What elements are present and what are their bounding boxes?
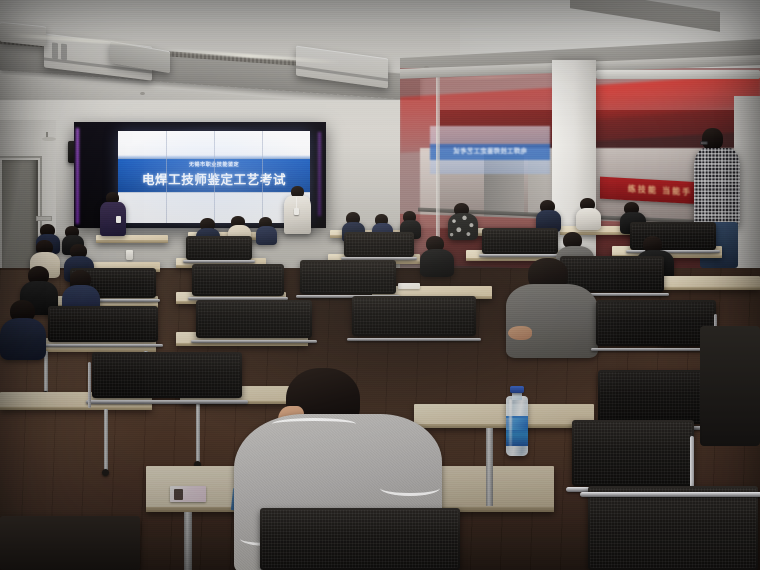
chair[interactable] bbox=[92, 352, 242, 398]
checkered-shirt bbox=[694, 148, 740, 226]
wall-sign-plate bbox=[36, 216, 52, 221]
bottle-cap[interactable] bbox=[510, 386, 524, 393]
chair[interactable] bbox=[344, 232, 414, 257]
desk-leg bbox=[184, 512, 192, 570]
roller-blind-housing[interactable] bbox=[596, 70, 760, 79]
ac-vent-icon bbox=[61, 43, 67, 60]
head bbox=[702, 128, 723, 150]
chair[interactable] bbox=[352, 296, 476, 336]
desk-leg bbox=[104, 409, 108, 471]
video-panel-seam bbox=[166, 131, 167, 223]
paper-cup[interactable] bbox=[126, 250, 133, 260]
video-panel-seam bbox=[262, 131, 263, 223]
wall-lamp-icon bbox=[42, 132, 56, 139]
chair[interactable] bbox=[48, 306, 158, 342]
video-panel-seam bbox=[118, 192, 310, 193]
screen-reflection-in-glass: 电焊工技师鉴定工艺考试 bbox=[430, 126, 550, 174]
id-badge bbox=[294, 208, 299, 215]
torso bbox=[0, 318, 46, 360]
projection-screen[interactable]: 无锡市职业技能鉴定 电焊工技师鉴定工艺考试 bbox=[118, 131, 310, 223]
bottle-highlight bbox=[509, 399, 512, 453]
arm bbox=[508, 326, 532, 340]
desk-leg bbox=[44, 351, 48, 393]
torso bbox=[256, 226, 277, 245]
chair[interactable] bbox=[192, 264, 284, 296]
screen-reflection-title: 电焊工技师鉴定工艺考试 bbox=[430, 146, 550, 155]
id-badge bbox=[116, 216, 121, 223]
video-wall-edge-glow bbox=[318, 132, 321, 216]
exam-paper[interactable] bbox=[398, 283, 420, 289]
chair[interactable] bbox=[700, 326, 760, 446]
desk-leg bbox=[486, 428, 493, 506]
chair-arm bbox=[88, 362, 91, 408]
smoke-detector-icon bbox=[140, 92, 145, 95]
video-panel-seam bbox=[118, 158, 310, 159]
desk bbox=[648, 276, 760, 290]
chair[interactable] bbox=[300, 260, 396, 294]
id-photo bbox=[174, 489, 183, 500]
chair[interactable] bbox=[572, 420, 694, 486]
torso bbox=[576, 208, 601, 230]
water-bottle[interactable] bbox=[504, 386, 530, 456]
torso bbox=[448, 213, 478, 240]
chair[interactable] bbox=[0, 516, 140, 570]
torso bbox=[100, 202, 126, 236]
exam-room-photo: 练技能 当能手 电焊工技师鉴定工艺考试 无锡市职业技能鉴定 电焊工技师鉴定工艺考… bbox=[0, 0, 760, 570]
chair[interactable] bbox=[588, 486, 758, 570]
glasses-icon bbox=[700, 141, 708, 145]
desk-leg bbox=[196, 403, 200, 463]
video-wall-edge-glow bbox=[76, 128, 79, 224]
sleeve-trim bbox=[380, 480, 440, 496]
ac-vent-icon bbox=[52, 42, 58, 59]
shirt-pattern bbox=[448, 213, 478, 240]
candidate-id-card[interactable] bbox=[170, 486, 206, 502]
desk-caster bbox=[102, 469, 109, 476]
chair[interactable] bbox=[260, 508, 460, 570]
chair[interactable] bbox=[186, 236, 252, 260]
torso bbox=[284, 196, 311, 234]
chair[interactable] bbox=[596, 300, 716, 346]
desk bbox=[96, 235, 168, 243]
video-panel-seam bbox=[214, 131, 215, 223]
torso bbox=[506, 284, 598, 358]
chair[interactable] bbox=[482, 228, 558, 254]
torso bbox=[420, 249, 454, 277]
chair[interactable] bbox=[196, 300, 312, 338]
chair-arm bbox=[690, 436, 694, 492]
